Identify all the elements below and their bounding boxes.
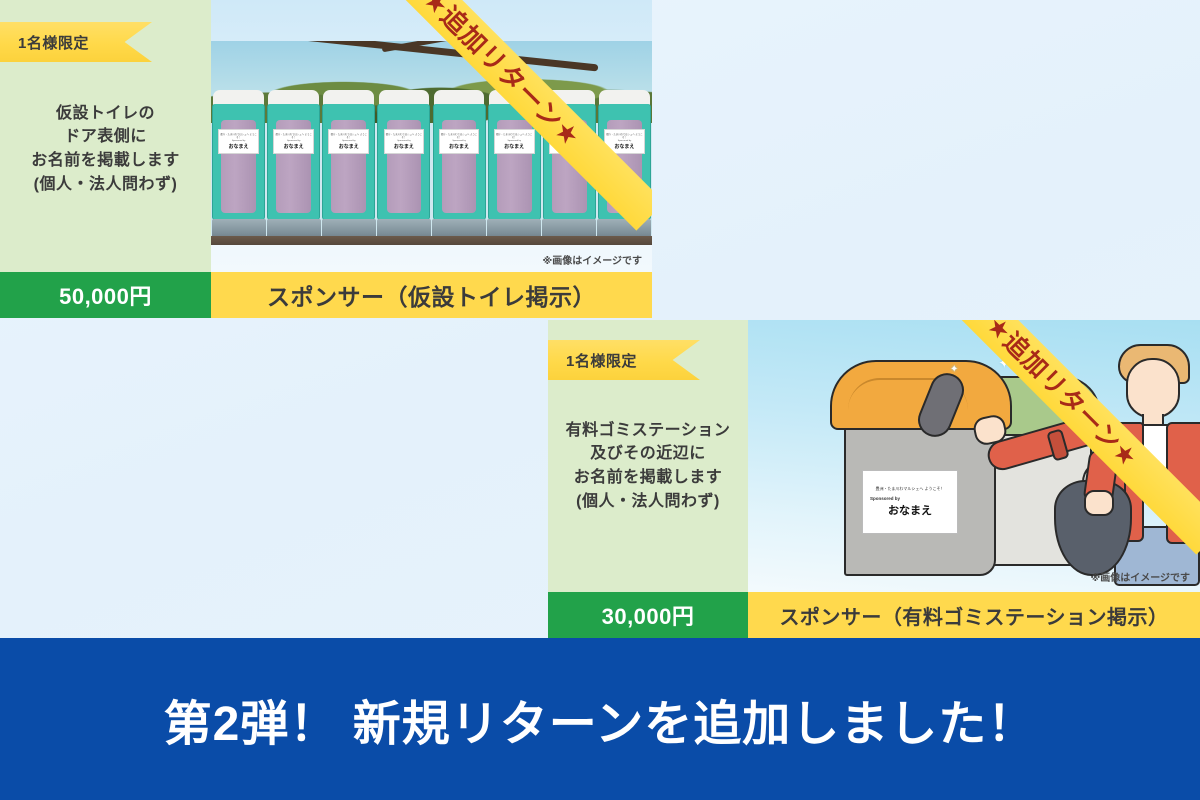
card-bottom-bar: 30,000円 スポンサー（有料ゴミステーション掲示） (548, 592, 1200, 638)
card-side-panel: 1名様限定 仮設トイレの ドア表側に お名前を掲載します (個人・法人問わず) (0, 0, 211, 272)
toilet-name-sign: 都庁・たま川わではシュへ ようこそ！ Sponsored by おなまえ (604, 129, 645, 153)
person-jacket-right (1166, 422, 1200, 544)
sparkle-icon: ✦ (950, 364, 958, 375)
card-body: 1名様限定 仮設トイレの ドア表側に お名前を掲載します (個人・法人問わず) … (0, 0, 652, 272)
limit-badge: 1名様限定 (0, 22, 152, 62)
return-card-portable-toilet[interactable]: 1名様限定 仮設トイレの ドア表側に お名前を掲載します (個人・法人問わず) … (0, 0, 652, 318)
price-label: 50,000円 (0, 272, 211, 318)
sign-line-1: 都庁・たま川わではシュへ ようこそ！ (495, 133, 534, 139)
toilet-unit: 都庁・たま川わではシュへ ようこそ！ Sponsored by おなまえ (266, 90, 321, 245)
sign-line-1: 都庁・たま川わではシュへ ようこそ！ (274, 133, 313, 139)
toilet-unit: 都庁・たま川わではシュへ ようこそ！ Sponsored by おなまえ (487, 90, 542, 245)
sign-line-3: おなまえ (449, 143, 469, 150)
ground-strip (211, 236, 652, 245)
card-media-photo: 都庁・たま川わではシュへ ようこそ！ Sponsored by おなまえ (211, 0, 652, 272)
bin-name-sign: 豊洲・たま川わマルシェへ ようこそ！ Sponsored by おなまえ (862, 470, 958, 534)
toilet-name-sign: 都庁・たま川わではシュへ ようこそ！ Sponsored by おなまえ (439, 129, 480, 153)
toilet-name-sign: 都庁・たま川わではシュへ ようこそ！ Sponsored by おなまえ (549, 129, 590, 153)
card-media-illustration: ✦ ✦ ✦ 豊洲・たま川わマルシェへ ようこそ！ Sponsored by おな… (748, 320, 1200, 592)
limit-badge: 1名様限定 (548, 340, 700, 380)
toilet-name-sign: 都庁・たま川わではシュへ ようこそ！ Sponsored by おなまえ (384, 129, 425, 153)
toilet-unit: 都庁・たま川わではシュへ ようこそ！ Sponsored by おなまえ (432, 90, 487, 245)
sign-line-3: おなまえ (559, 143, 579, 150)
sign-line-3: おなまえ (614, 143, 634, 150)
toilet-unit: 都庁・たま川わではシュへ ようこそ！ Sponsored by おなまえ (376, 90, 431, 245)
toilet-body: 都庁・たま川わではシュへ ようこそ！ Sponsored by おなまえ (212, 104, 265, 220)
announcement-banner: 第2弾！ 新規リターンを追加しました！ (0, 638, 1200, 800)
toilet-unit: 都庁・たま川わではシュへ ようこそ！ Sponsored by おなまえ (321, 90, 376, 245)
card-description: 仮設トイレの ドア表側に お名前を掲載します (個人・法人問わず) (25, 102, 186, 197)
sign-line-3: おなまえ (394, 143, 414, 150)
sign-line-2: Sponsored by (287, 140, 301, 142)
sign-line-1: 都庁・たま川わではシュへ ようこそ！ (440, 133, 479, 139)
toilet-name-sign: 都庁・たま川わではシュへ ようこそ！ Sponsored by おなまえ (218, 129, 259, 153)
image-disclaimer: ※画像はイメージです (1090, 569, 1190, 584)
garbage-station-illustration: ✦ ✦ ✦ 豊洲・たま川わマルシェへ ようこそ！ Sponsored by おな… (748, 320, 1200, 592)
sign-line-3: おなまえ (284, 143, 304, 150)
sign-line-1: 都庁・たま川わではシュへ ようこそ！ (329, 133, 368, 139)
sign-line-1: 都庁・たま川わではシュへ ようこそ！ (219, 133, 258, 139)
sparkle-icon: ✦ (1034, 370, 1043, 383)
toilet-row: 都庁・たま川わではシュへ ようこそ！ Sponsored by おなまえ (211, 90, 652, 245)
price-label: 30,000円 (548, 592, 748, 638)
return-card-garbage-station[interactable]: 1名様限定 有料ゴミステーション 及びその近辺に お名前を掲載します (個人・法… (548, 320, 1200, 638)
image-disclaimer: ※画像はイメージです (542, 252, 642, 267)
toilet-body: 都庁・たま川わではシュへ ようこそ！ Sponsored by おなまえ (322, 104, 375, 220)
announcement-headline: 第2弾！ 新規リターンを追加しました！ (164, 684, 1037, 754)
sign-line-1: 豊洲・たま川わマルシェへ ようこそ！ (876, 486, 945, 491)
toilet-name-sign: 都庁・たま川わではシュへ ようこそ！ Sponsored by おなまえ (273, 129, 314, 153)
person-head (1126, 358, 1180, 418)
sign-line-3: おなまえ (504, 143, 524, 150)
toilet-body: 都庁・たま川わではシュへ ようこそ！ Sponsored by おなまえ (267, 104, 320, 220)
portable-toilet-photo: 都庁・たま川わではシュへ ようこそ！ Sponsored by おなまえ (211, 41, 652, 245)
toilet-body: 都庁・たま川わではシュへ ようこそ！ Sponsored by おなまえ (433, 104, 486, 220)
toilet-name-sign: 都庁・たま川わではシュへ ようこそ！ Sponsored by おなまえ (328, 129, 369, 153)
card-bottom-bar: 50,000円 スポンサー（仮設トイレ掲示） (0, 272, 652, 318)
sign-line-1: 都庁・たま川わではシュへ ようこそ！ (605, 133, 644, 139)
toilet-unit: 都庁・たま川わではシュへ ようこそ！ Sponsored by おなまえ (597, 90, 652, 245)
toilet-body: 都庁・たま川わではシュへ ようこそ！ Sponsored by おなまえ (598, 104, 651, 220)
toilet-body: 都庁・たま川わではシュへ ようこそ！ Sponsored by おなまえ (488, 104, 541, 220)
sparkle-icon: ✦ (998, 354, 1011, 372)
sign-line-2: Sponsored by (618, 140, 632, 142)
sign-line-2: Sponsored by (397, 140, 411, 142)
sign-line-3: おなまえ (229, 143, 249, 150)
sign-line-2: Sponsored by (563, 140, 577, 142)
toilet-body: 都庁・たま川わではシュへ ようこそ！ Sponsored by おなまえ (543, 104, 596, 220)
sign-line-2: Sponsored by (507, 140, 521, 142)
card-title: スポンサー（有料ゴミステーション掲示） (748, 592, 1200, 638)
toilet-name-sign: 都庁・たま川わではシュへ ようこそ！ Sponsored by おなまえ (494, 129, 535, 153)
toilet-unit: 都庁・たま川わではシュへ ようこそ！ Sponsored by おなまえ (211, 90, 266, 245)
person-illustration (1070, 330, 1200, 585)
sign-line-3: おなまえ (888, 502, 932, 518)
card-description: 有料ゴミステーション 及びその近辺に お名前を掲載します (個人・法人問わず) (560, 419, 737, 514)
tree-branch (247, 41, 599, 71)
card-title: スポンサー（仮設トイレ掲示） (211, 272, 652, 318)
sign-line-2: Sponsored by (342, 140, 356, 142)
sign-line-2: Sponsored by (870, 496, 900, 501)
toilet-unit: 都庁・たま川わではシュへ ようこそ！ Sponsored by おなまえ (542, 90, 597, 245)
person-hand-lower (1084, 490, 1114, 516)
card-body: 1名様限定 有料ゴミステーション 及びその近辺に お名前を掲載します (個人・法… (548, 320, 1200, 592)
toilet-body: 都庁・たま川わではシュへ ようこそ！ Sponsored by おなまえ (377, 104, 430, 220)
card-side-panel: 1名様限定 有料ゴミステーション 及びその近辺に お名前を掲載します (個人・法… (548, 320, 748, 592)
sign-line-1: 都庁・たま川わではシュへ ようこそ！ (385, 133, 424, 139)
sign-line-3: おなまえ (339, 143, 359, 150)
sign-line-2: Sponsored by (452, 140, 466, 142)
sign-line-1: 都庁・たま川わではシュへ ようこそ！ (550, 133, 589, 139)
sign-line-2: Sponsored by (232, 140, 246, 142)
